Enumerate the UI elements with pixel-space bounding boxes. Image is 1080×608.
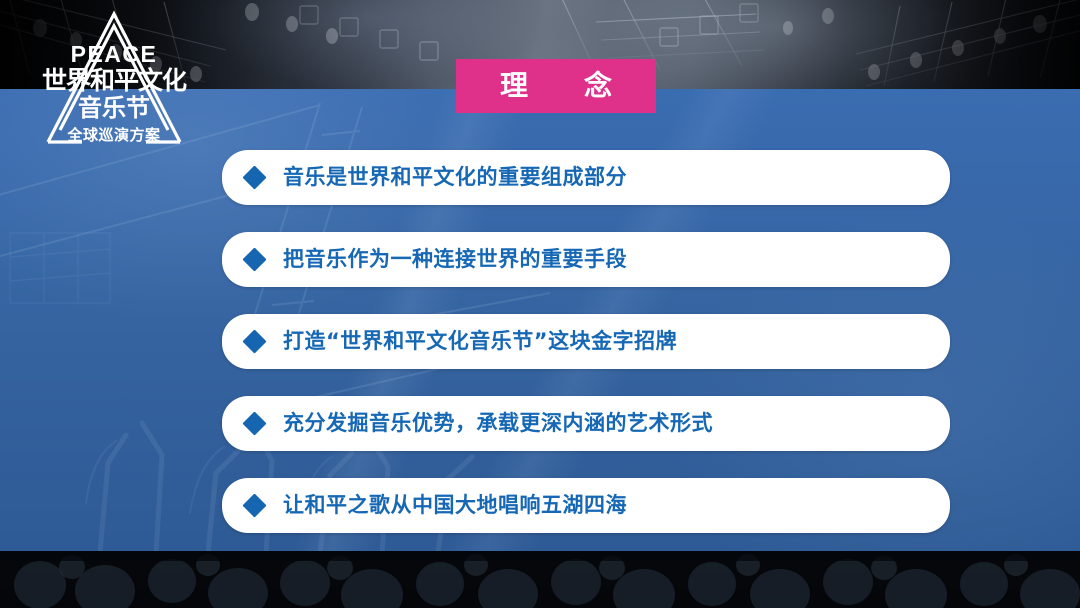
page-title: 理 念 [486, 72, 626, 100]
bottom-crowd-photo-band [0, 551, 1080, 608]
bullet-card-text: 让和平之歌从中国大地唱响五湖四海 [283, 495, 627, 516]
bullet-card-text: 打造“世界和平文化音乐节”这块金字招牌 [283, 331, 677, 352]
bullet-card[interactable]: 充分发掘音乐优势，承载更深内涵的艺术形式 [222, 396, 950, 451]
bullet-card-text: 充分发掘音乐优势，承载更深内涵的艺术形式 [283, 413, 713, 434]
bullet-card-text: 把音乐作为一种连接世界的重要手段 [283, 249, 627, 270]
festival-logo: PEACE 世界和平文化 音乐节 全球巡演方案 [14, 4, 214, 152]
bullet-card[interactable]: 让和平之歌从中国大地唱响五湖四海 [222, 478, 950, 533]
diamond-bullet-icon [242, 411, 266, 435]
logo-peace-text: PEACE [71, 41, 158, 67]
diamond-bullet-icon [242, 493, 266, 517]
logo-line-3: 全球巡演方案 [66, 126, 161, 144]
crowd-silhouette-graphic [0, 551, 1080, 608]
diamond-bullet-icon [242, 165, 266, 189]
logo-line-1: 世界和平文化 [42, 66, 187, 95]
bullet-card-list: 音乐是世界和平文化的重要组成部分 把音乐作为一种连接世界的重要手段 打造“世界和… [222, 150, 950, 533]
slide-title-banner: 理 念 [456, 59, 656, 113]
logo-line-2: 音乐节 [78, 94, 150, 122]
presentation-slide: PEACE 世界和平文化 音乐节 全球巡演方案 理 念 音乐是世界和平文化的重要… [0, 0, 1080, 608]
bullet-card-text: 音乐是世界和平文化的重要组成部分 [283, 167, 627, 188]
bullet-card[interactable]: 打造“世界和平文化音乐节”这块金字招牌 [222, 314, 950, 369]
diamond-bullet-icon [242, 329, 266, 353]
bullet-card[interactable]: 音乐是世界和平文化的重要组成部分 [222, 150, 950, 205]
bullet-card[interactable]: 把音乐作为一种连接世界的重要手段 [222, 232, 950, 287]
peace-logo-graphic: PEACE 世界和平文化 音乐节 全球巡演方案 [14, 4, 214, 152]
diamond-bullet-icon [242, 247, 266, 271]
